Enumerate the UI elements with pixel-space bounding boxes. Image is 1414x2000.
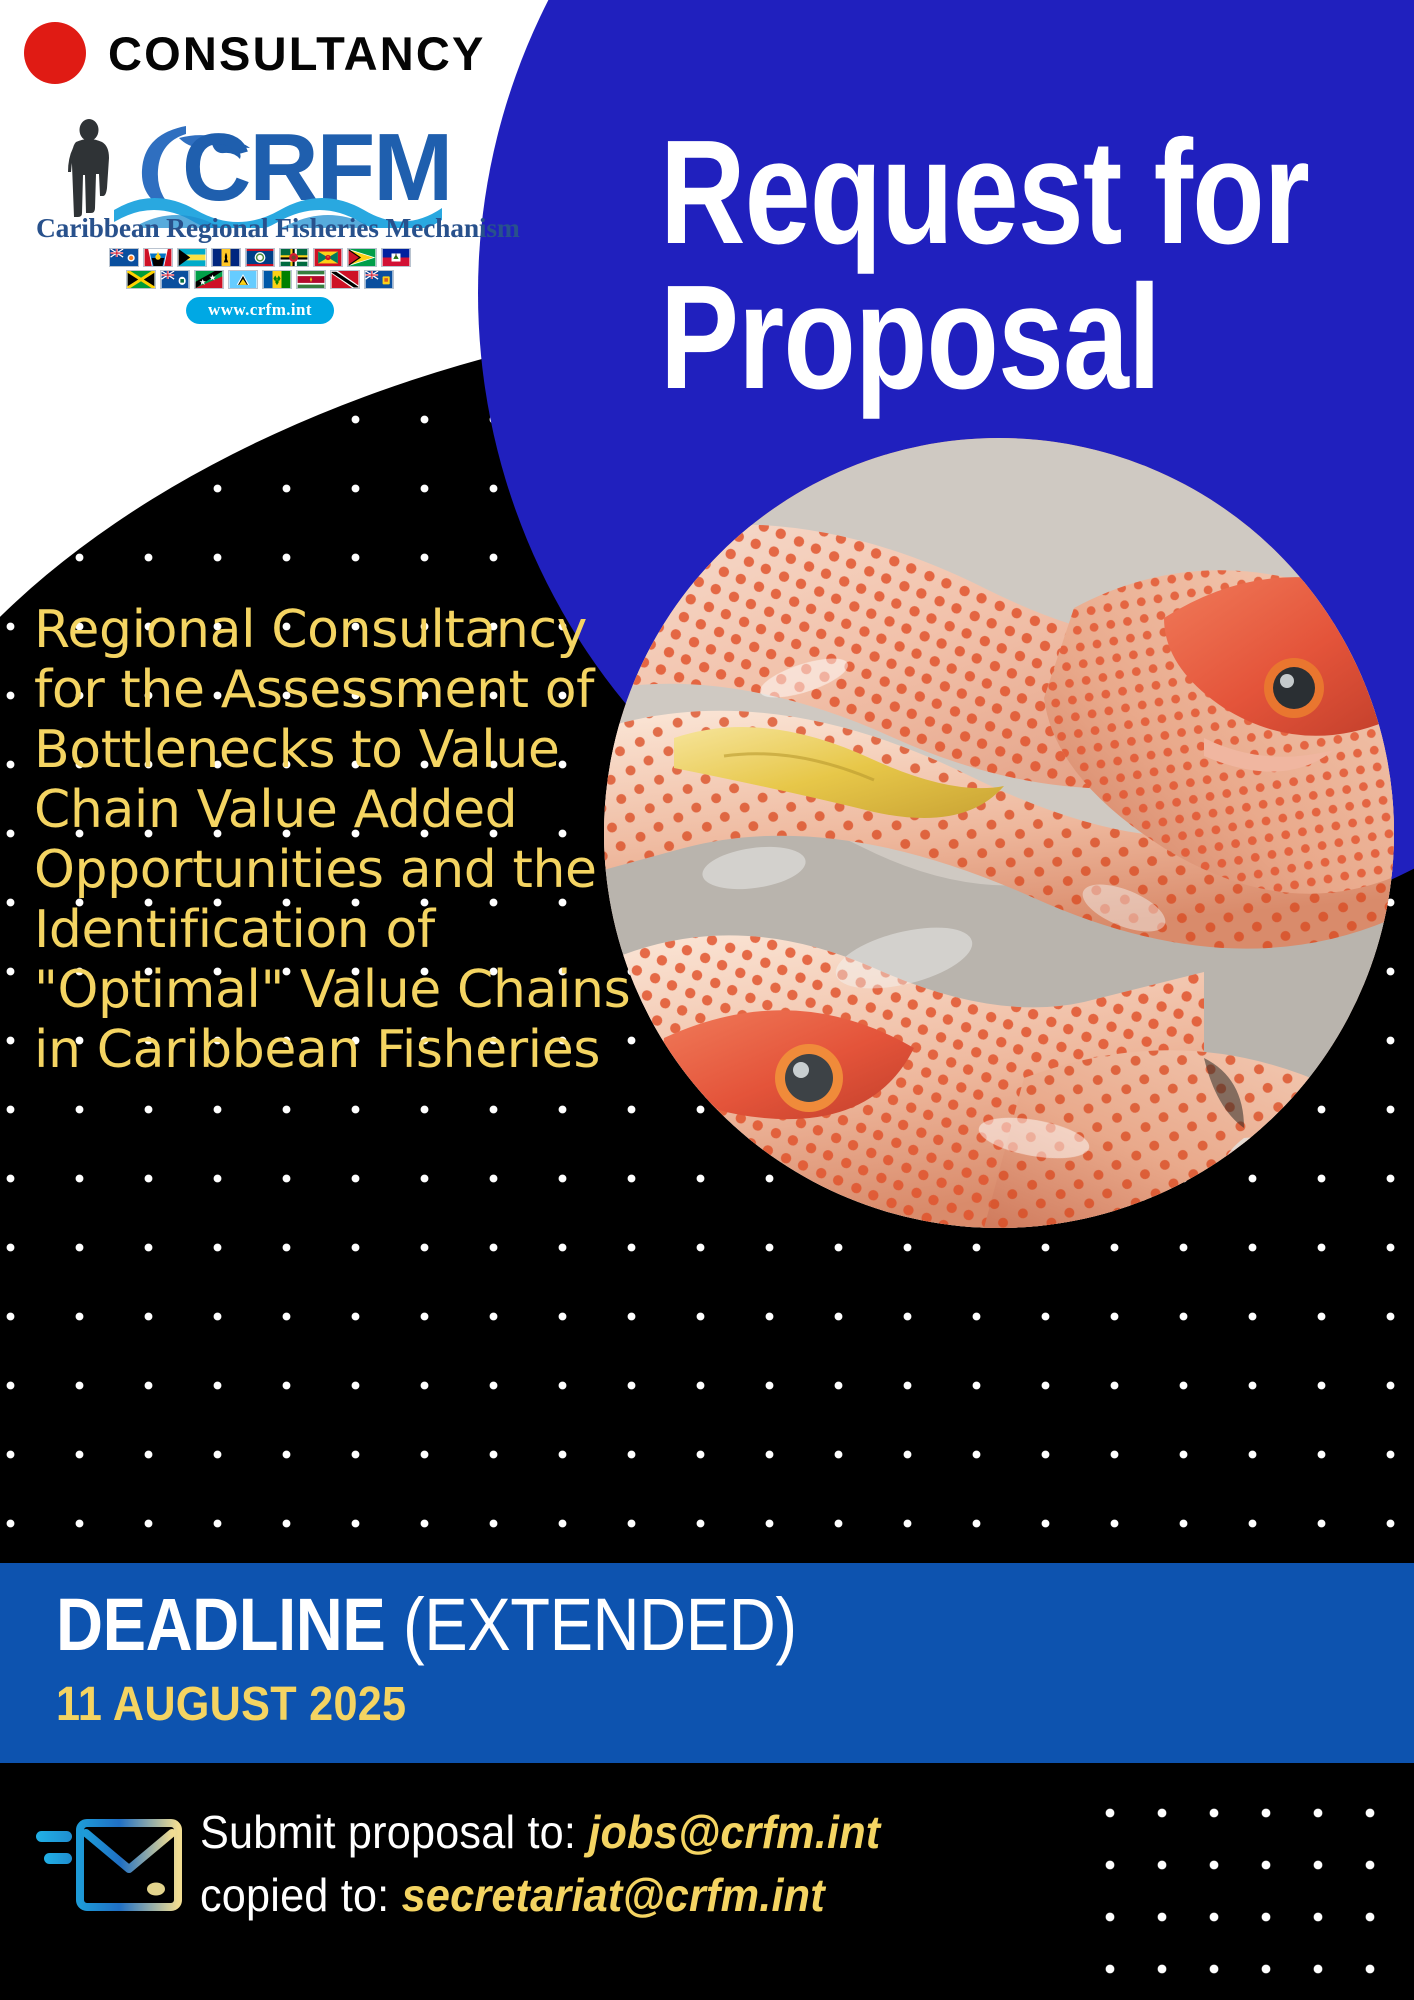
secretariat-email[interactable]: secretariat@crfm.int [402, 1869, 825, 1921]
poster-header: CONSULTANCY [0, 0, 700, 300]
submit-line: Submit proposal to: jobs@crfm.int [200, 1801, 1093, 1864]
submit-prefix: Submit proposal to: [200, 1806, 588, 1858]
page-title: Request for Proposal [660, 120, 1236, 410]
submission-instructions: Submit proposal to: jobs@crfm.int copied… [200, 1801, 1150, 1928]
deadline-extended: (EXTENDED) [385, 1583, 796, 1666]
consultancy-badge: CONSULTANCY [24, 22, 486, 84]
red-circle-icon [24, 22, 86, 84]
poster-canvas: CONSULTANCY CRFM Caribbean Regional F [0, 0, 1414, 2000]
title-line-2: Proposal [660, 265, 1236, 410]
deadline-banner: DEADLINE (EXTENDED) 11 AUGUST 2025 [0, 1563, 1414, 1763]
consultancy-label: CONSULTANCY [108, 30, 486, 77]
consultancy-title: Regional Consultancy for the Assessment … [34, 600, 654, 1080]
deadline-label: DEADLINE (EXTENDED) [56, 1588, 797, 1662]
fish-photo [604, 438, 1394, 1228]
jobs-email[interactable]: jobs@crfm.int [588, 1806, 880, 1858]
deadline-date: 11 AUGUST 2025 [56, 1681, 406, 1729]
copied-line: copied to: secretariat@crfm.int [200, 1864, 1093, 1927]
poster-footer: Submit proposal to: jobs@crfm.int copied… [0, 1763, 1414, 2000]
crfm-url-badge[interactable]: www.crfm.int [186, 297, 334, 324]
deadline-word: DEADLINE [56, 1583, 385, 1666]
speed-dash-2 [44, 1853, 72, 1864]
speed-dash-1 [36, 1831, 72, 1842]
copied-prefix: copied to: [200, 1869, 402, 1921]
fish-photo-art [604, 438, 1394, 1228]
title-line-1: Request for [660, 120, 1236, 265]
envelope-icon [34, 1811, 182, 1921]
